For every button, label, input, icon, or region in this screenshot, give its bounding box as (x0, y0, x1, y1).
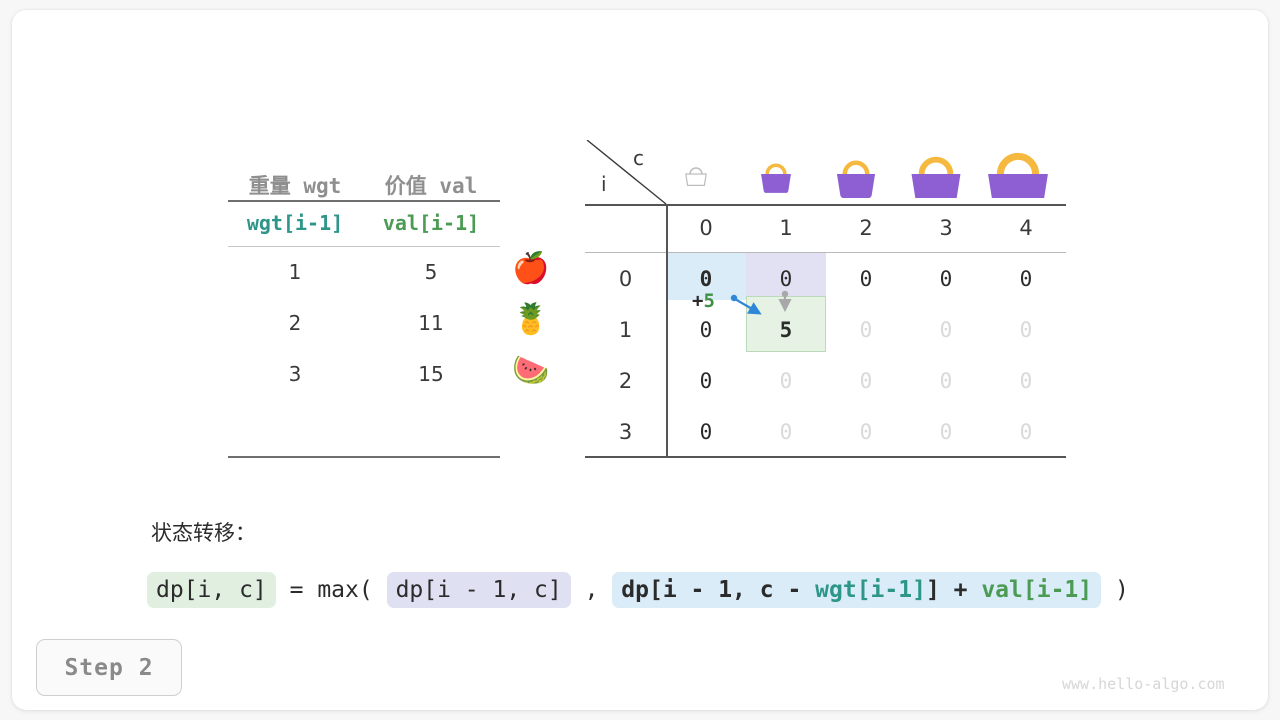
dp-col-header-0: 0 (666, 216, 746, 240)
formula-arg-take-prefix: dp[i - 1, c - (621, 577, 815, 603)
arrow-diagonal-take-item (731, 295, 759, 313)
items-header-val: 价值 val (362, 170, 500, 200)
formula-token-val: val[i-1] (981, 577, 1092, 603)
dp-row-header-2: 2 (585, 369, 666, 393)
dp-cell-3-1: 0 (746, 420, 826, 444)
dp-cell-2-3: 0 (906, 369, 986, 393)
formula-arg-take: dp[i - 1, c - wgt[i-1]] + val[i-1] (612, 572, 1101, 608)
dp-axis-corner: c i (585, 140, 668, 206)
item-row-0-val: 5 (362, 260, 500, 284)
state-transition-label: 状态转移： (151, 517, 256, 547)
watermark: www.hello-algo.com (1062, 675, 1225, 693)
dp-axis-label-i: i (601, 172, 607, 196)
formula-closing: ) (1101, 577, 1129, 603)
item-row-0-wgt: 1 (228, 260, 362, 284)
dp-cell-3-4: 0 (986, 420, 1066, 444)
dp-col-header-3: 3 (906, 216, 986, 240)
dp-cell-3-3: 0 (906, 420, 986, 444)
dp-col-header-4: 4 (986, 216, 1066, 240)
watermelon-emoji: 🍉 (508, 356, 554, 386)
dp-row-header-0: 0 (585, 267, 666, 291)
formula-arg-skip: dp[i - 1, c] (387, 572, 571, 608)
dp-cell-0-2: 0 (826, 267, 906, 291)
items-table-rule-under-header (228, 246, 500, 247)
dp-cell-2-4: 0 (986, 369, 1066, 393)
formula-token-wgt: wgt[i-1] (815, 577, 926, 603)
items-symbol-val: val[i-1] (362, 211, 500, 235)
item-row-2-val: 15 (362, 362, 500, 386)
formula-eq: = max( (276, 577, 387, 603)
dp-rule-bottom (585, 456, 1066, 458)
formula-arg-take-mid: ] + (926, 577, 981, 603)
formula-comma: , (571, 577, 613, 603)
item-row-1-val: 11 (362, 311, 500, 335)
dp-cell-2-0: 0 (666, 369, 746, 393)
dp-cell-3-2: 0 (826, 420, 906, 444)
dp-col-header-2: 2 (826, 216, 906, 240)
dp-row-header-1: 1 (585, 318, 666, 342)
dp-axis-label-c: c (633, 146, 644, 170)
dp-row-header-3: 3 (585, 420, 666, 444)
step-badge: Step 2 (36, 639, 182, 696)
transition-arrows (712, 285, 822, 330)
items-table-rule-bottom (228, 456, 500, 458)
items-header-wgt: 重量 wgt (228, 170, 362, 200)
dp-col-header-1: 1 (746, 216, 826, 240)
dp-cell-1-2: 0 (826, 318, 906, 342)
dp-cell-2-1: 0 (746, 369, 826, 393)
item-row-1-wgt: 2 (228, 311, 362, 335)
pineapple-emoji: 🍍 (508, 305, 554, 335)
dp-cell-0-3: 0 (906, 267, 986, 291)
dp-rule-under-header (585, 252, 1066, 253)
diagonal-line-icon (585, 140, 668, 206)
formula-lhs: dp[i, c] (147, 572, 276, 608)
apple-emoji: 🍎 (508, 254, 554, 284)
items-table: 重量 wgt 价值 val wgt[i-1] val[i-1] 1 5 🍎 2 … (228, 200, 500, 456)
state-transition-formula: dp[i, c] = max( dp[i - 1, c] , dp[i - 1,… (147, 567, 1129, 613)
dp-cell-2-2: 0 (826, 369, 906, 393)
items-symbol-wgt: wgt[i-1] (228, 211, 362, 235)
dp-cell-3-0: 0 (666, 420, 746, 444)
dp-table: c i 0 1 2 3 4 0 1 2 3 0 0 0 0 0 0 5 0 0 … (585, 140, 1066, 458)
arrow-down-skip-item (782, 291, 788, 309)
slide-canvas: 重量 wgt 价值 val wgt[i-1] val[i-1] 1 5 🍎 2 … (12, 10, 1268, 710)
items-table-rule-top (228, 200, 500, 202)
dp-cell-0-4: 0 (986, 267, 1066, 291)
dp-cell-1-4: 0 (986, 318, 1066, 342)
dp-cell-1-3: 0 (906, 318, 986, 342)
item-row-2-wgt: 3 (228, 362, 362, 386)
